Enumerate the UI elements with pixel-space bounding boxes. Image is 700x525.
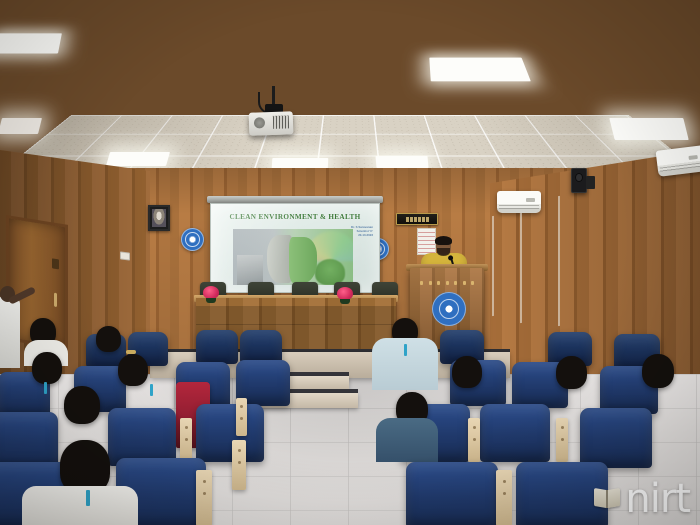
seat-frame — [180, 418, 192, 462]
auditorium-seat[interactable] — [480, 404, 550, 462]
audience-person-head — [64, 386, 100, 424]
air-conditioner-icon — [497, 191, 541, 213]
audience-person-head — [96, 326, 121, 352]
projector-icon — [249, 111, 294, 136]
plaque-letter — [414, 217, 417, 222]
speaker-bracket — [586, 176, 595, 189]
auditorium-seat[interactable] — [580, 408, 652, 468]
audience-hair-accessory — [126, 350, 136, 354]
plaque-letter — [410, 217, 413, 222]
portrait-image — [152, 209, 166, 227]
podium-letter — [437, 281, 440, 285]
institution-emblem-icon — [181, 228, 204, 251]
ceiling-light-panel — [375, 156, 428, 168]
plaque-letter — [422, 217, 425, 222]
audience-person-head — [452, 356, 482, 388]
seat-frame — [468, 418, 480, 462]
wall-speaker-icon — [571, 168, 587, 193]
presenter-hair — [435, 236, 452, 245]
auditorium-seat[interactable] — [406, 462, 498, 525]
flower-arrangement-icon — [203, 286, 219, 299]
wall-conduit — [558, 196, 560, 326]
wall-conduit — [492, 216, 494, 316]
podium-letter — [471, 281, 474, 285]
flower-arrangement-icon — [337, 287, 353, 300]
air-conditioner-icon — [656, 145, 700, 177]
ac-display — [526, 198, 535, 202]
conference-hall-photo: CLEAN ENVIRONMENT & HEALTH Dr. S Saravan… — [0, 0, 700, 525]
audience-lanyard — [44, 382, 47, 394]
auditorium-seat[interactable] — [196, 330, 238, 364]
seat-frame — [236, 398, 247, 436]
ceiling-light-panel — [429, 58, 531, 82]
slide-title: CLEAN ENVIRONMENT & HEALTH — [211, 213, 379, 221]
plaque-letter — [406, 217, 409, 222]
auditorium-seat[interactable] — [240, 330, 282, 364]
podium-letter — [463, 281, 466, 285]
podium-letter — [446, 281, 449, 285]
audience-person-body — [22, 486, 138, 525]
seat-frame — [556, 418, 568, 462]
slide-city-shape — [237, 255, 263, 285]
audience-lanyard — [150, 384, 153, 396]
ac-vent — [499, 205, 540, 210]
seat-frame — [496, 470, 512, 525]
projector-vents — [273, 115, 289, 129]
seat-frame — [196, 470, 212, 525]
audience-person-body — [376, 418, 438, 462]
framed-portrait-icon — [148, 205, 170, 231]
standing-person — [0, 296, 20, 368]
audience-lanyard — [404, 344, 407, 356]
plaque-letter — [418, 217, 421, 222]
podium-letter — [454, 281, 457, 285]
plaque-letter — [426, 217, 429, 222]
audience-person-head — [32, 352, 62, 384]
presenter-beard — [437, 248, 450, 256]
podium-letter — [420, 281, 423, 285]
slide-face-green — [289, 237, 317, 283]
ac-vent — [660, 162, 700, 173]
podium-lettering — [420, 280, 474, 285]
dais-panel-line — [196, 324, 396, 325]
seat-frame — [232, 440, 246, 490]
auditorium-seat[interactable] — [196, 404, 264, 462]
slide-artwork — [233, 229, 353, 285]
audience-person-head — [118, 354, 148, 386]
audience-lanyard — [86, 490, 90, 506]
audience-person-head — [556, 356, 587, 389]
door-plate — [52, 259, 59, 270]
notice-plaque-sign — [396, 213, 438, 225]
ceiling-light-panel — [0, 33, 62, 53]
projection-screen: CLEAN ENVIRONMENT & HEALTH Dr. S Saravan… — [210, 203, 380, 293]
ac-display — [689, 155, 698, 160]
screen-roller-housing — [207, 196, 383, 203]
slide-byline: Dr. S Saravanan Scientist 'C' 20-10-2023 — [351, 226, 373, 238]
wall-conduit — [520, 213, 522, 323]
slide-byline-date: 20-10-2023 — [351, 234, 373, 238]
projector-lens — [254, 117, 265, 128]
wall-poster — [417, 228, 436, 255]
institution-emblem-icon — [432, 292, 466, 326]
ceiling-light-panel — [609, 118, 688, 140]
door-handle[interactable] — [54, 292, 57, 306]
audience-person-head — [642, 354, 674, 388]
ceiling-light-panel — [106, 152, 170, 166]
auditorium-seat[interactable] — [516, 462, 608, 525]
podium-letter — [429, 281, 432, 285]
ceiling-light-panel — [0, 118, 42, 134]
light-switch-icon[interactable] — [120, 251, 130, 260]
